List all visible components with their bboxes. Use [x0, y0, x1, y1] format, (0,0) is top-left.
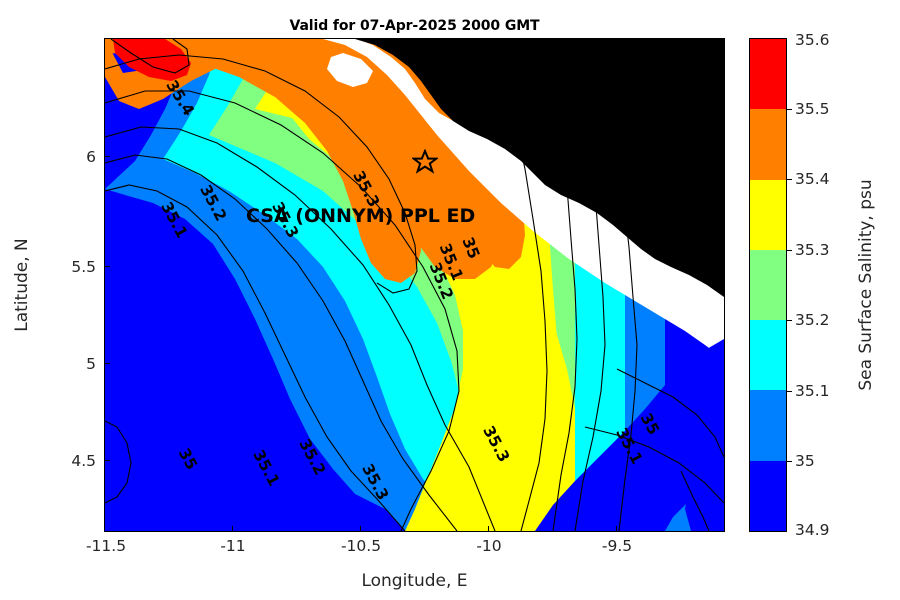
colorbar-tick — [787, 461, 792, 462]
map-plot-area[interactable]: 35.4 35.1 35.2 35.3 35.3 35 35.1 35.2 35… — [104, 38, 725, 532]
colorbar-tick — [787, 250, 792, 251]
colorbar-tick-label: 35.1 — [795, 382, 830, 400]
colorbar[interactable] — [749, 38, 787, 532]
x-tick — [232, 526, 233, 532]
colorbar-tick-label: 35.5 — [795, 100, 830, 118]
colorbar-band-35.1-35.2 — [750, 320, 786, 390]
colorbar-band-35.3-35.4 — [750, 180, 786, 250]
y-tick — [104, 266, 110, 267]
colorbar-tick — [787, 179, 792, 180]
colorbar-tick-label: 35.2 — [795, 311, 830, 329]
colorbar-band-35.0-35.1 — [750, 390, 786, 460]
y-tick — [104, 460, 110, 461]
colorbar-title: Sea Surface Salinity, psu — [856, 179, 876, 390]
colorbar-tick-label: 34.9 — [795, 521, 830, 539]
colorbar-tick-label: 35.3 — [795, 241, 830, 259]
y-tick — [104, 156, 110, 157]
x-tick-label: -11 — [220, 537, 245, 555]
x-tick-label: -9.5 — [602, 537, 632, 555]
y-tick-label: 5.5 — [58, 258, 96, 276]
y-tick-label: 5 — [58, 355, 96, 373]
x-tick — [360, 526, 361, 532]
x-tick — [616, 526, 617, 532]
x-tick-label: -10 — [476, 537, 501, 555]
colorbar-tick-label: 35.4 — [795, 170, 830, 188]
x-tick-label: -10.5 — [341, 537, 381, 555]
x-tick-label: -11.5 — [86, 537, 126, 555]
x-tick — [488, 526, 489, 532]
colorbar-tick — [787, 109, 792, 110]
colorbar-tick — [787, 320, 792, 321]
chart-title: Valid for 07-Apr-2025 2000 GMT — [104, 18, 725, 34]
figure-canvas: Valid for 07-Apr-2025 2000 GMT — [0, 0, 900, 600]
y-tick — [104, 363, 110, 364]
colorbar-tick-label: 35 — [795, 452, 815, 470]
x-axis-title: Longitude, E — [104, 571, 725, 591]
x-tick — [104, 526, 105, 532]
colorbar-band-34.9-35.0 — [750, 461, 786, 531]
y-tick-label: 6 — [58, 148, 96, 166]
colorbar-tick — [787, 391, 792, 392]
colorbar-band-35.4-35.5 — [750, 109, 786, 179]
colorbar-band-35.5-35.6 — [750, 39, 786, 109]
colorbar-tick-label: 35.6 — [795, 31, 830, 49]
y-axis-title: Latitude, N — [12, 238, 32, 332]
colorbar-band-35.2-35.3 — [750, 250, 786, 320]
y-tick-label: 4.5 — [58, 452, 96, 470]
salinity-contour-map — [105, 39, 724, 531]
